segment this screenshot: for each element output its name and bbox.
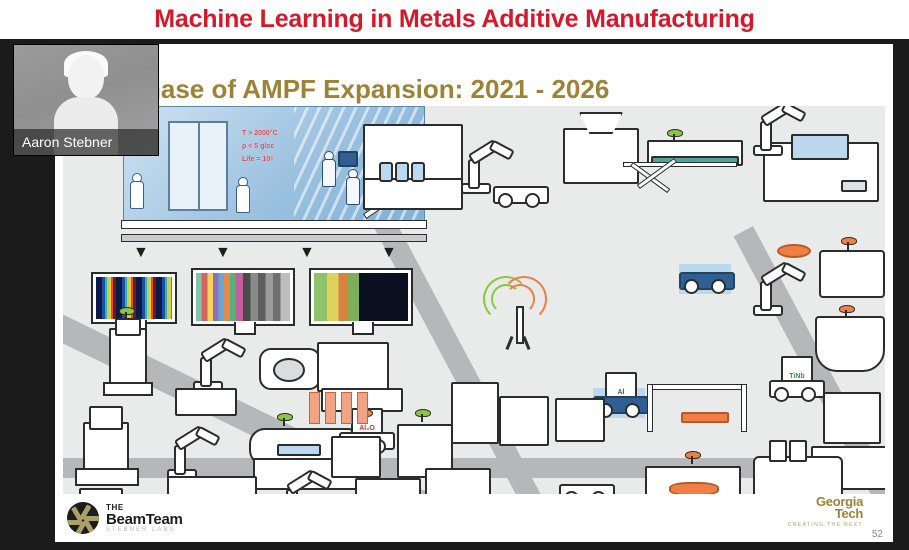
tensile-specimen-rack xyxy=(307,392,369,426)
sensor-node-icon xyxy=(277,410,291,426)
beamteam-wordmark: THE BeamTeam STEBNER LABS xyxy=(106,504,183,533)
rolling-mill xyxy=(819,250,885,298)
microstructure-ebsd-screen xyxy=(196,273,290,321)
furnace-unit xyxy=(823,392,881,444)
dust-collector xyxy=(451,382,499,444)
tower-leg xyxy=(505,336,513,350)
presentation-window: Machine Learning in Metals Additive Manu… xyxy=(0,0,909,550)
cart-wheel xyxy=(498,193,513,208)
microstructure-ebsd-display xyxy=(191,268,295,326)
slide-title: hase of AMPF Expansion: 2021 - 2026 xyxy=(145,74,609,105)
heated-workpiece xyxy=(681,412,729,423)
sample-vial xyxy=(379,162,393,182)
flow-arrow-down: ▼ xyxy=(133,244,149,262)
flow-arrow-down: ▼ xyxy=(299,244,315,262)
cart-wheel xyxy=(774,387,789,402)
webcam-tile[interactable]: Aaron Stebner xyxy=(14,45,158,155)
cart-wheel xyxy=(711,279,726,294)
press-machine xyxy=(109,328,147,388)
signal-wave-icon xyxy=(501,276,547,322)
cart-wheel xyxy=(684,279,699,294)
transport-cart xyxy=(559,476,611,494)
sensor-node-icon xyxy=(685,448,699,464)
robot-arm xyxy=(167,424,219,480)
hot-billet xyxy=(777,244,811,258)
robot-arm xyxy=(193,334,249,392)
sample-vial xyxy=(395,162,409,182)
monitor-stand xyxy=(352,322,374,335)
cooling-unit xyxy=(499,396,549,446)
silhouette-head xyxy=(68,55,104,99)
slide-header: hase of AMPF Expansion: 2021 - 2026 xyxy=(55,58,893,102)
cart-wheel xyxy=(801,387,816,402)
robot-arm xyxy=(279,472,335,494)
bandsaw-machine xyxy=(167,476,257,494)
participant-name-bar: Aaron Stebner xyxy=(14,129,158,155)
cart-wheel xyxy=(525,193,540,208)
flow-arrow-down: ▼ xyxy=(215,244,231,262)
hot-part xyxy=(669,482,719,494)
robot-arm xyxy=(461,134,517,194)
lathe-workpiece xyxy=(277,444,321,456)
georgia-tech-tagline: CREATING THE NEXT xyxy=(788,523,863,528)
thermal-simulation-display xyxy=(91,272,177,324)
sensor-node-icon xyxy=(841,234,855,250)
material-cart-tinb: TiNb xyxy=(769,372,821,402)
press-head xyxy=(115,318,141,336)
sensor-node-icon xyxy=(667,126,681,142)
grinder-station xyxy=(355,478,421,494)
drill-press-head xyxy=(79,488,123,494)
turntable-disc xyxy=(273,358,305,382)
slide-page-number: 52 xyxy=(872,529,883,540)
milling-head xyxy=(89,406,123,430)
presentation-title-banner: Machine Learning in Metals Additive Manu… xyxy=(0,0,909,39)
airlock-door xyxy=(168,121,228,211)
material-spec-text: T > 2000°C ρ < 5 g/cc Life = 10⁶ xyxy=(242,127,278,166)
participant-name: Aaron Stebner xyxy=(14,134,112,150)
person-figure xyxy=(236,177,248,211)
gantry-frame xyxy=(647,384,747,432)
flow-arrow-down: ▼ xyxy=(381,244,397,262)
aperture-icon xyxy=(67,502,99,534)
control-panel xyxy=(841,180,867,192)
factory-floor-illustration: T > 2000°C ρ < 5 g/cc Life = 10⁶ City xyxy=(63,106,885,494)
truss-frame xyxy=(623,162,743,202)
slide-stage: hase of AMPF Expansion: 2021 - 2026 T > … xyxy=(55,44,893,542)
inspection-station xyxy=(331,436,381,478)
tablet-device xyxy=(338,151,358,167)
ct-tomography-screen xyxy=(314,273,408,321)
georgia-tech-logo: Georgia Tech CREATING THE NEXT xyxy=(788,495,863,528)
transport-cart xyxy=(679,264,731,294)
catwalk-deck xyxy=(121,234,427,242)
robot-pedestal xyxy=(175,388,237,416)
person-figure xyxy=(130,173,142,207)
gantry-arm xyxy=(753,106,813,156)
lab-bench-cabinets xyxy=(363,178,463,210)
sample-vial xyxy=(411,162,425,182)
spec-line-2: ρ < 5 g/cc xyxy=(242,140,278,153)
robot-arm xyxy=(753,256,813,316)
slide-canvas: hase of AMPF Expansion: 2021 - 2026 T > … xyxy=(55,44,893,542)
ct-tomography-display xyxy=(309,268,413,326)
machine-base xyxy=(103,382,153,396)
cart-wheel xyxy=(625,403,640,418)
furnace-stack xyxy=(769,440,787,462)
sensor-node-icon xyxy=(839,302,853,318)
presentation-title: Machine Learning in Metals Additive Manu… xyxy=(154,5,754,34)
mixing-vessel xyxy=(815,316,885,372)
sensor-node-icon xyxy=(119,304,133,320)
beamteam-logo: THE BeamTeam STEBNER LABS xyxy=(67,498,227,538)
beamteam-line-2: BeamTeam xyxy=(106,512,183,527)
person-figure xyxy=(322,151,334,185)
milling-base xyxy=(75,468,139,486)
sorting-machine xyxy=(555,398,605,442)
test-frame xyxy=(425,468,491,494)
sensor-node-icon xyxy=(415,406,429,422)
cnc-enclosure xyxy=(317,342,389,392)
spec-line-1: T > 2000°C xyxy=(242,127,278,140)
furnace-stack xyxy=(789,440,807,462)
beamteam-line-3: STEBNER LABS xyxy=(106,527,183,533)
person-figure xyxy=(346,169,358,203)
spec-line-3: Life = 10⁶ xyxy=(242,153,278,166)
